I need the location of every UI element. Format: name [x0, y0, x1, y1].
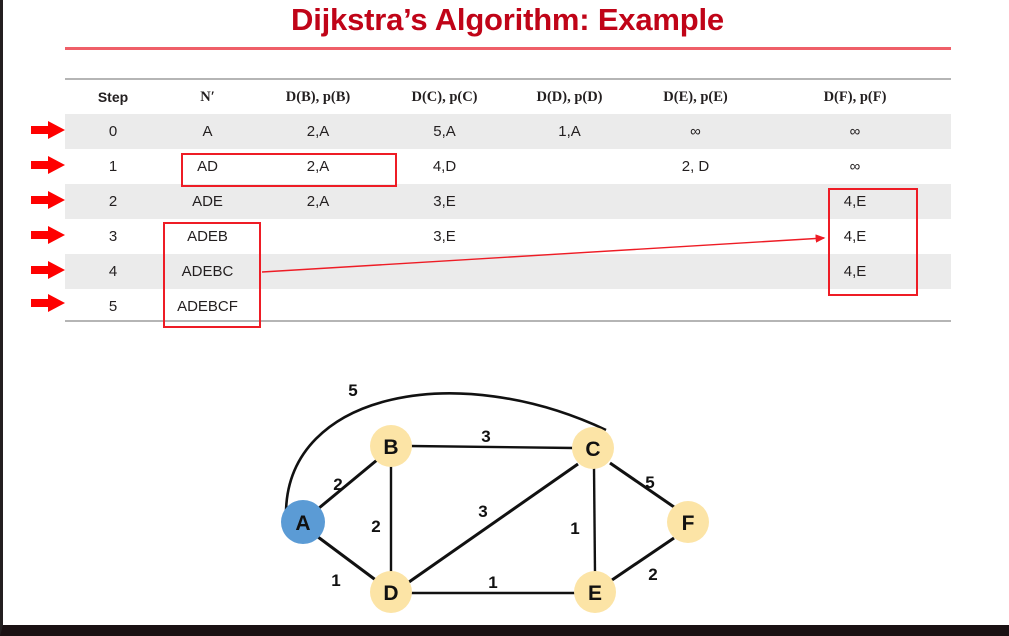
node-label-d: D	[383, 582, 398, 605]
cell-db: 2,A	[254, 149, 382, 184]
table-row: 4 ADEBC 4,E	[65, 254, 951, 289]
cell-dd: 1,A	[507, 114, 632, 149]
cell-nprime: ADEBC	[161, 254, 254, 289]
node-a[interactable]: A	[281, 500, 325, 544]
table-header-row: Step N′ D(B), p(B) D(C), p(C) D(D), p(D)…	[65, 80, 951, 114]
weight-d-e: 1	[488, 573, 497, 592]
page-title: Dijkstra’s Algorithm: Example	[3, 2, 1009, 38]
cell-dc: 4,D	[382, 149, 507, 184]
title-divider	[65, 47, 951, 50]
cell-db: 2,A	[254, 114, 382, 149]
cell-dc: 3,E	[382, 219, 507, 254]
column-header-step: Step	[65, 80, 161, 114]
weight-c-f: 5	[645, 473, 654, 492]
table-row: 0 A 2,A 5,A 1,A ∞ ∞	[65, 114, 951, 149]
cell-step: 4	[65, 254, 161, 289]
edge-e-f	[612, 538, 674, 580]
column-header-dc: D(C), p(C)	[382, 80, 507, 114]
cell-db	[254, 219, 382, 254]
cell-step: 1	[65, 149, 161, 184]
cell-db: 2,A	[254, 184, 382, 219]
node-label-a: A	[295, 512, 310, 535]
weight-a-c: 5	[348, 381, 357, 400]
row-arrow-step-1	[31, 156, 65, 174]
cell-db	[254, 254, 382, 289]
node-label-e: E	[588, 582, 602, 605]
table-row: 5 ADEBCF	[65, 289, 951, 324]
column-header-df: D(F), p(F)	[759, 80, 951, 114]
cell-dc: 3,E	[382, 184, 507, 219]
cell-dc: 5,A	[382, 114, 507, 149]
cell-de	[632, 254, 759, 289]
arrow-head-icon	[48, 226, 65, 244]
arrow-head-icon	[48, 261, 65, 279]
row-arrow-step-5	[31, 294, 65, 312]
edge-a-d	[318, 537, 377, 581]
slide-canvas: Dijkstra’s Algorithm: Example	[0, 0, 1009, 636]
cell-nprime: ADEB	[161, 219, 254, 254]
cell-de: 2, D	[632, 149, 759, 184]
table-row: 1 AD 2,A 4,D 2, D ∞	[65, 149, 951, 184]
node-b[interactable]: B	[370, 425, 412, 467]
edge-c-f	[610, 463, 674, 507]
arrow-head-icon	[48, 156, 65, 174]
weight-e-f: 2	[648, 565, 657, 584]
cell-df: 4,E	[759, 219, 951, 254]
weight-a-b: 2	[333, 475, 342, 494]
edge-c-e	[594, 467, 595, 573]
graph-edges	[286, 393, 674, 593]
dijkstra-table: Step N′ D(B), p(B) D(C), p(C) D(D), p(D)…	[65, 78, 951, 322]
cell-step: 0	[65, 114, 161, 149]
cell-nprime: A	[161, 114, 254, 149]
graph-edge-weights: 5 2 1 3 2 3 1 5 1 2	[331, 381, 657, 592]
edge-b-c	[410, 446, 574, 448]
cell-df: ∞	[759, 149, 951, 184]
weight-b-d: 2	[371, 517, 380, 536]
cell-de	[632, 289, 759, 324]
cell-step: 5	[65, 289, 161, 324]
cell-nprime: AD	[161, 149, 254, 184]
edge-a-b	[319, 460, 377, 508]
cell-df: 4,E	[759, 254, 951, 289]
cell-dd	[507, 219, 632, 254]
cell-nprime: ADE	[161, 184, 254, 219]
row-arrow-step-0	[31, 121, 65, 139]
arrow-head-icon	[48, 191, 65, 209]
row-arrow-step-2	[31, 191, 65, 209]
node-c[interactable]: C	[572, 427, 614, 469]
cell-dd	[507, 289, 632, 324]
node-label-b: B	[383, 436, 398, 459]
arrow-head-icon	[48, 294, 65, 312]
weighted-graph-diagram: 5 2 1 3 2 3 1 5 1 2 A B C	[258, 352, 758, 632]
table-row: 3 ADEB 3,E 4,E	[65, 219, 951, 254]
cell-dc	[382, 254, 507, 289]
node-label-f: F	[682, 512, 695, 535]
cell-de	[632, 184, 759, 219]
cell-db	[254, 289, 382, 324]
cell-df: 4,E	[759, 184, 951, 219]
cell-de	[632, 219, 759, 254]
cell-dd	[507, 149, 632, 184]
cell-step: 3	[65, 219, 161, 254]
cell-df: ∞	[759, 114, 951, 149]
weight-c-e: 1	[570, 519, 579, 538]
row-arrow-step-3	[31, 226, 65, 244]
weight-c-d: 3	[478, 502, 487, 521]
edge-c-d	[409, 464, 578, 582]
node-e[interactable]: E	[574, 571, 616, 613]
cell-nprime: ADEBCF	[161, 289, 254, 324]
cell-dd	[507, 254, 632, 289]
table-row: 2 ADE 2,A 3,E 4,E	[65, 184, 951, 219]
node-f[interactable]: F	[667, 501, 709, 543]
arrow-head-icon	[48, 121, 65, 139]
column-header-dd: D(D), p(D)	[507, 80, 632, 114]
cell-de: ∞	[632, 114, 759, 149]
row-arrow-step-4	[31, 261, 65, 279]
column-header-nprime: N′	[161, 80, 254, 114]
cell-df	[759, 289, 951, 324]
column-header-de: D(E), p(E)	[632, 80, 759, 114]
cell-step: 2	[65, 184, 161, 219]
cell-dd	[507, 184, 632, 219]
weight-b-c: 3	[481, 427, 490, 446]
weight-a-d: 1	[331, 571, 340, 590]
node-d[interactable]: D	[370, 571, 412, 613]
cell-dc	[382, 289, 507, 324]
node-label-c: C	[585, 438, 600, 461]
column-header-db: D(B), p(B)	[254, 80, 382, 114]
